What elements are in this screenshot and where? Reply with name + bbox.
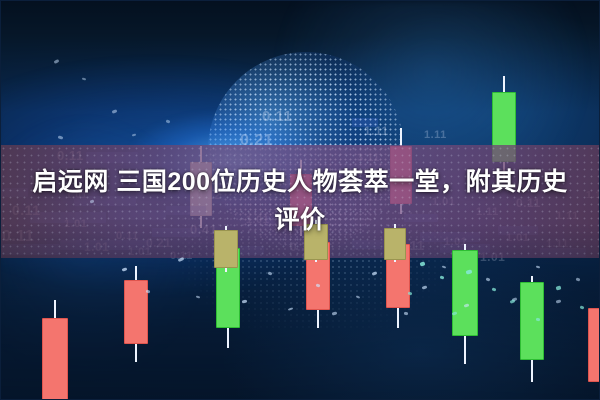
floating-speck xyxy=(58,135,64,139)
floating-speck xyxy=(440,275,445,279)
floating-speck xyxy=(178,257,185,262)
floating-speck xyxy=(464,303,470,307)
floating-speck xyxy=(146,289,151,293)
floating-speck xyxy=(372,271,378,276)
floating-speck xyxy=(510,299,516,304)
banner-title: 启远网 三国200位历史人物荟萃一堂，附其历史 评价 xyxy=(0,163,600,239)
floating-speck xyxy=(442,265,446,268)
floating-speck xyxy=(536,265,540,268)
floating-speck xyxy=(166,119,171,123)
floating-speck xyxy=(452,311,458,315)
floating-speck xyxy=(54,59,60,64)
floating-speck xyxy=(242,300,248,304)
floating-speck xyxy=(132,133,136,136)
floating-speck xyxy=(556,299,562,303)
floating-speck xyxy=(422,285,428,289)
title-line-2: 评价 xyxy=(0,201,600,239)
floating-speck xyxy=(196,296,200,299)
floating-speck xyxy=(316,283,321,287)
floating-speck xyxy=(122,267,128,271)
banner-image: 0.110.110.211.111.113.111.011.010.110.11… xyxy=(0,0,600,400)
floating-speck xyxy=(536,318,541,322)
floating-speck xyxy=(580,305,585,309)
floating-speck xyxy=(268,271,273,275)
floating-speck xyxy=(332,311,338,315)
floating-speck xyxy=(466,269,473,274)
floating-speck xyxy=(486,277,491,281)
floating-speck xyxy=(112,109,118,114)
floating-speck xyxy=(82,77,86,80)
floating-speck xyxy=(492,287,497,291)
floating-speck xyxy=(576,277,581,281)
floating-speck xyxy=(404,312,409,316)
title-line-1: 启远网 三国200位历史人物荟萃一堂，附其历史 xyxy=(0,163,600,201)
floating-speck xyxy=(356,295,360,298)
floating-speck xyxy=(420,261,426,266)
floating-speck xyxy=(408,291,413,295)
floating-speck xyxy=(288,307,293,311)
floating-speck xyxy=(556,285,562,290)
